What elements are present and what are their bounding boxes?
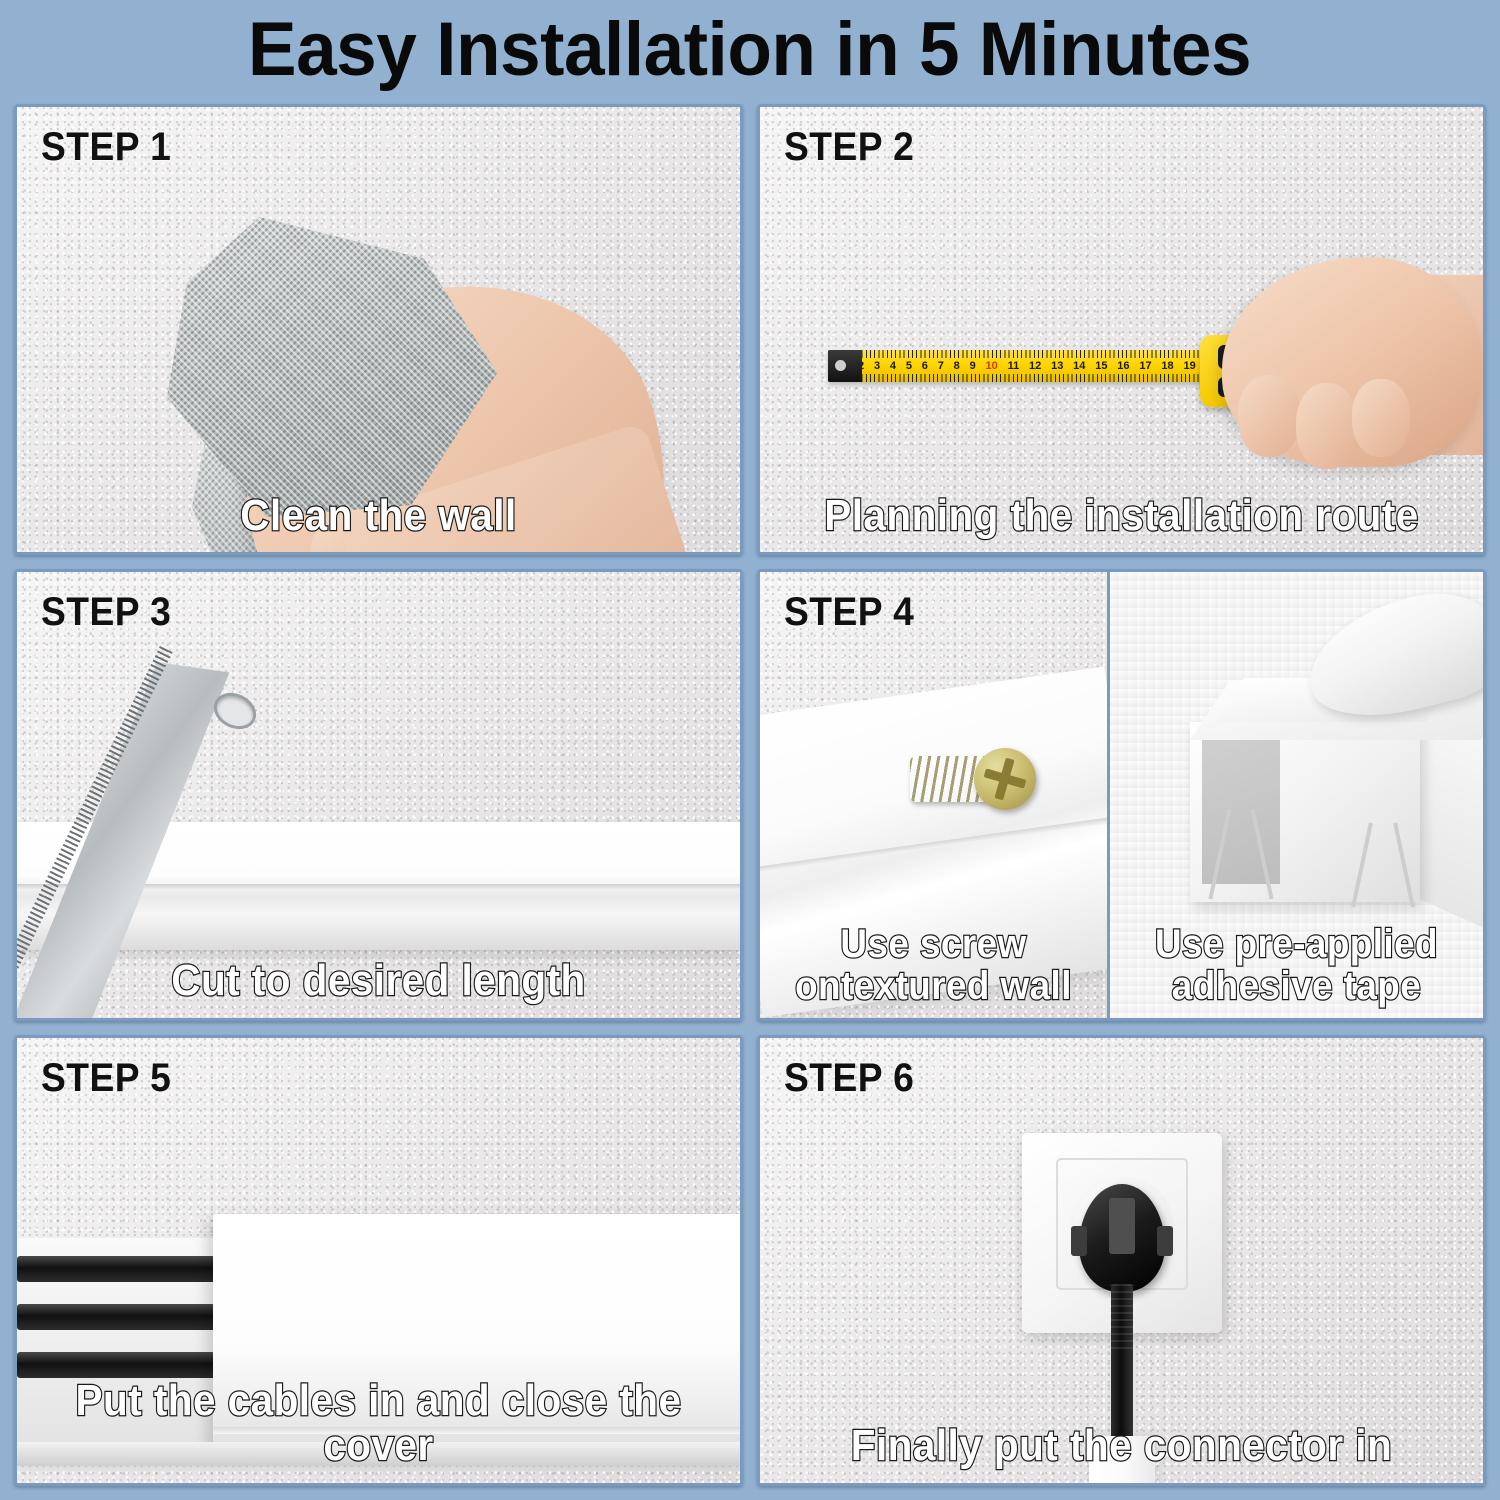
tape-measure-hook bbox=[828, 350, 862, 382]
tape-measure-blade: 2 3 4 5 6 7 8 9 10 11 12 13 14 15 16 17 … bbox=[828, 350, 1232, 382]
step-caption-5: Put the cables in and close the cover bbox=[46, 1378, 711, 1470]
step-panel-5: STEP 5 Put the cables in and close the c… bbox=[14, 1035, 743, 1486]
tape-tick-4: 4 bbox=[890, 360, 896, 372]
step-caption-4-right: Use pre-applied adhesive tape bbox=[1125, 924, 1468, 1007]
step-label-4: STEP 4 bbox=[784, 590, 914, 635]
tape-tick-12: 12 bbox=[1029, 360, 1041, 372]
step-caption-4-left-line1: Use screw bbox=[774, 924, 1093, 966]
step-4-right-subpanel: Use pre-applied adhesive tape bbox=[1110, 572, 1483, 1017]
plug-earth-clip-right bbox=[1157, 1226, 1173, 1256]
step-label-5: STEP 5 bbox=[41, 1056, 171, 1101]
step-caption-1: Clean the wall bbox=[46, 493, 711, 539]
step-panel-1: STEP 1 Clean the wall bbox=[14, 104, 743, 555]
tape-tick-13: 13 bbox=[1051, 360, 1063, 372]
plug-pin-housing bbox=[1109, 1198, 1135, 1254]
tape-tick-15: 15 bbox=[1095, 360, 1107, 372]
tape-tick-6: 6 bbox=[922, 360, 928, 372]
tape-tick-19: 19 bbox=[1183, 360, 1195, 372]
tape-tick-8: 8 bbox=[954, 360, 960, 372]
plug-strain-relief bbox=[1107, 1284, 1137, 1350]
tape-tick-17: 17 bbox=[1139, 360, 1151, 372]
step-caption-2: Planning the installation route bbox=[789, 493, 1454, 539]
step-panel-3: STEP 3 Cut to desired length bbox=[14, 569, 743, 1020]
step-panel-2: 2 3 4 5 6 7 8 9 10 11 12 13 14 15 16 17 … bbox=[757, 104, 1486, 555]
raceway-cavity bbox=[1202, 734, 1280, 884]
step-panel-4: STEP 4 Use screw ontextured wall Use pre… bbox=[757, 569, 1486, 1020]
tape-ticks-top bbox=[828, 350, 1232, 358]
screw-head bbox=[974, 748, 1036, 810]
step-caption-6: Finally put the connector in bbox=[789, 1423, 1454, 1469]
tape-tick-3: 3 bbox=[874, 360, 880, 372]
step-label-1: STEP 1 bbox=[41, 125, 171, 170]
step-caption-3: Cut to desired length bbox=[46, 958, 711, 1004]
page-header: Easy Installation in 5 Minutes bbox=[0, 0, 1500, 100]
tape-tick-14: 14 bbox=[1073, 360, 1085, 372]
step-label-6: STEP 6 bbox=[784, 1056, 914, 1101]
step-caption-4-left: Use screw ontextured wall bbox=[774, 924, 1093, 1007]
knuckle-3 bbox=[1352, 379, 1410, 457]
step-panel-6: STEP 6 Finally put the connector in bbox=[757, 1035, 1486, 1486]
tape-measure-numbers: 2 3 4 5 6 7 8 9 10 11 12 13 14 15 16 17 … bbox=[858, 358, 1218, 374]
step-caption-4-left-line2: ontextured wall bbox=[774, 966, 1093, 1008]
tape-tick-18: 18 bbox=[1161, 360, 1173, 372]
tape-ticks-bottom bbox=[828, 374, 1232, 382]
step-4-left-subpanel: STEP 4 Use screw ontextured wall bbox=[760, 572, 1107, 1017]
tape-tick-16: 16 bbox=[1117, 360, 1129, 372]
tape-tick-10: 10 bbox=[986, 360, 998, 372]
step-caption-4-right-line1: Use pre-applied bbox=[1125, 924, 1468, 966]
plug-earth-clip-left bbox=[1071, 1226, 1087, 1256]
tape-tick-9: 9 bbox=[970, 360, 976, 372]
steps-grid: STEP 1 Clean the wall 2 3 4 5 6 7 8 9 10… bbox=[14, 104, 1486, 1486]
knuckle-1 bbox=[1238, 375, 1300, 457]
tape-tick-5: 5 bbox=[906, 360, 912, 372]
page-title: Easy Installation in 5 Minutes bbox=[248, 12, 1251, 88]
step-caption-4-right-line2: adhesive tape bbox=[1125, 966, 1468, 1008]
tape-tick-7: 7 bbox=[938, 360, 944, 372]
knuckle-2 bbox=[1296, 383, 1358, 469]
step-label-3: STEP 3 bbox=[41, 590, 171, 635]
tape-tick-11: 11 bbox=[1008, 360, 1020, 372]
step-label-2: STEP 2 bbox=[784, 125, 914, 170]
